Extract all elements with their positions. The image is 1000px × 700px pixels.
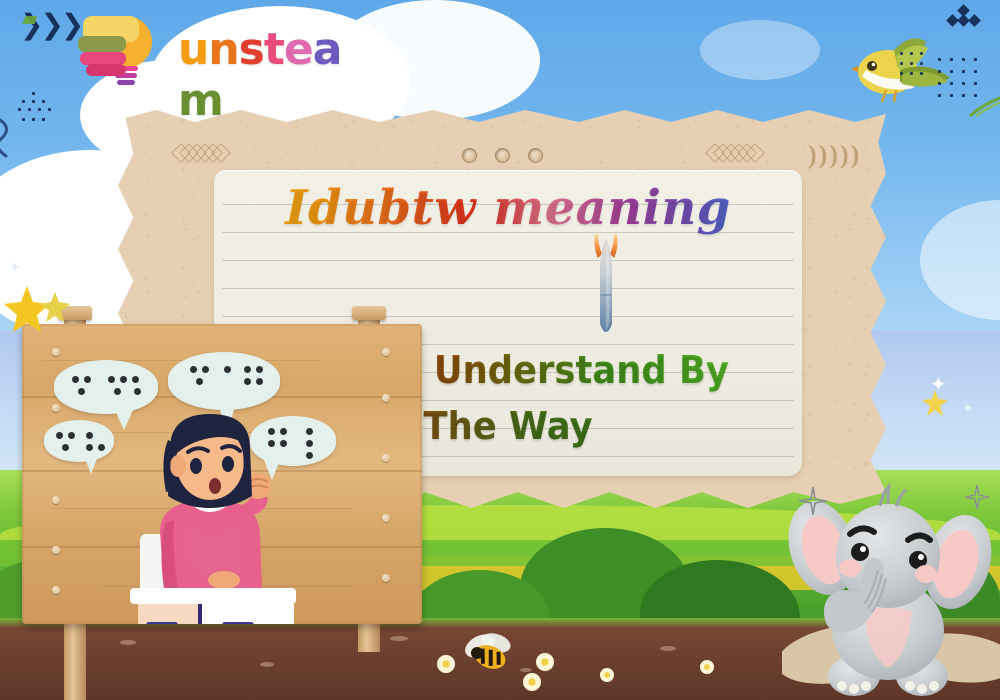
flower-icon	[523, 673, 541, 691]
elephant-illustration	[782, 470, 1000, 700]
notepad-holes	[118, 148, 886, 163]
screw-icon	[52, 404, 60, 412]
bird-illustration	[852, 32, 962, 112]
brand-name: unsteam	[178, 24, 348, 126]
flower-icon	[437, 655, 455, 673]
flower-icon	[536, 653, 554, 671]
screw-icon	[382, 394, 390, 402]
screw-icon	[382, 454, 390, 462]
screw-icon	[52, 496, 60, 504]
sign-board	[22, 324, 422, 624]
bee-icon	[462, 632, 518, 672]
chevron-ornament: )))))	[808, 140, 861, 170]
confused-girl-at-desk	[82, 412, 332, 624]
hole-icon	[495, 148, 510, 163]
hole-icon	[462, 148, 477, 163]
poster-canvas: ))))) Idubtw meaning I Don’t Understand …	[0, 0, 1000, 700]
flower-icon	[700, 660, 714, 674]
page-title: Idubtw meaning	[214, 180, 802, 236]
post-cap-left	[58, 306, 92, 320]
wooden-signboard	[22, 300, 422, 700]
brand-logo[interactable]: unsteam	[68, 8, 348, 94]
hole-icon	[528, 148, 543, 163]
rocket-pen-icon	[592, 232, 620, 340]
screw-icon	[382, 348, 390, 356]
flower-icon	[600, 668, 614, 682]
post-cap-right	[352, 306, 386, 320]
screw-icon	[382, 574, 390, 582]
speech-bubble	[168, 352, 280, 410]
speech-bubble	[54, 360, 158, 414]
screw-icon	[52, 546, 60, 554]
screw-icon	[52, 586, 60, 594]
lightbulb-speech-bubble-icon	[68, 8, 178, 94]
screw-icon	[382, 514, 390, 522]
screw-icon	[52, 348, 60, 356]
